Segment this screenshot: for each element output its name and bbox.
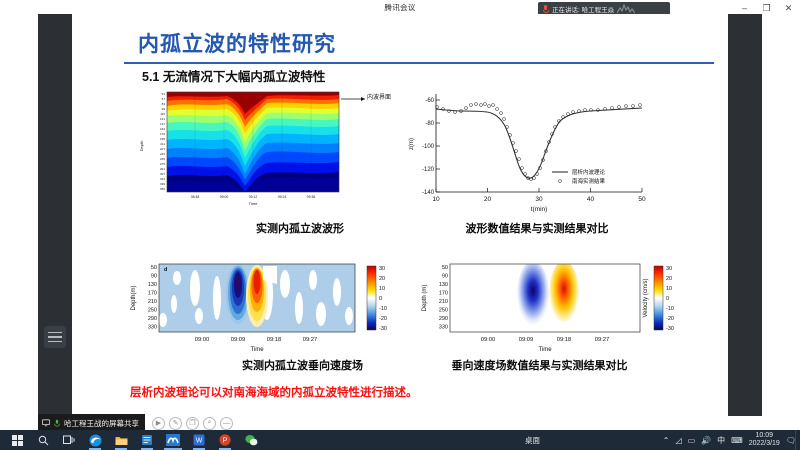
svg-text:09:00: 09:00 <box>195 337 210 343</box>
svg-text:Depth: Depth <box>139 141 144 152</box>
svg-text:09:24: 09:24 <box>278 195 287 199</box>
svg-text:Time: Time <box>249 201 259 206</box>
play-icon[interactable]: ▶ <box>152 417 165 430</box>
microphone-small-icon <box>53 419 61 427</box>
svg-text:290: 290 <box>439 316 448 322</box>
svg-text:115: 115 <box>160 112 165 116</box>
svg-text:-120: -120 <box>422 167 435 173</box>
svg-text:355: 355 <box>160 187 165 191</box>
volume-icon[interactable]: 🔊 <box>701 436 711 445</box>
show-desktop-button[interactable] <box>795 430 800 450</box>
caption-bottom-left: 实测内孤立波垂向速度场 <box>195 357 410 373</box>
keyboard-icon[interactable]: ⌨ <box>731 436 743 445</box>
active-speaker-label: 正在讲话: 哈工程王焱 <box>552 4 614 14</box>
svg-text:275: 275 <box>160 162 165 166</box>
svg-text:50: 50 <box>442 265 448 271</box>
chart-measured-isw-waveform: 516783 99115131 147163179 195211227 2432… <box>127 86 377 216</box>
svg-text:-80: -80 <box>425 121 434 127</box>
svg-text:30: 30 <box>379 266 385 272</box>
audio-wave-icon <box>617 4 635 14</box>
svg-text:-20: -20 <box>666 316 674 322</box>
svg-text:210: 210 <box>148 299 157 305</box>
svg-text:-30: -30 <box>379 326 387 332</box>
svg-text:50: 50 <box>151 265 157 271</box>
svg-text:291: 291 <box>160 167 165 171</box>
monitor-icon <box>42 419 50 427</box>
start-icon[interactable] <box>4 430 30 450</box>
svg-text:09:00: 09:00 <box>481 337 496 343</box>
battery-icon[interactable]: ▭ <box>688 436 696 445</box>
svg-text:-60: -60 <box>425 98 434 104</box>
menu-list-icon[interactable] <box>44 326 66 348</box>
file-explorer-icon[interactable] <box>108 430 134 450</box>
svg-text:南海实测结果: 南海实测结果 <box>572 177 606 185</box>
svg-text:09:27: 09:27 <box>595 337 610 343</box>
svg-text:0: 0 <box>666 296 669 302</box>
svg-text:67: 67 <box>162 97 166 101</box>
edge-icon[interactable] <box>82 430 108 450</box>
svg-text:170: 170 <box>439 291 448 297</box>
svg-text:09:18: 09:18 <box>557 337 572 343</box>
tray-overflow-chevron-icon[interactable]: ⌃ <box>663 436 670 445</box>
svg-text:307: 307 <box>160 172 165 176</box>
svg-text:90: 90 <box>151 274 157 280</box>
svg-text:130: 130 <box>439 282 448 288</box>
window-controls[interactable]: – ❐ ✕ <box>739 1 794 15</box>
svg-text:195: 195 <box>160 137 165 141</box>
annotation-label: 内波界面 <box>367 92 391 101</box>
network-icon[interactable]: ◿ <box>675 436 681 445</box>
svg-text:30: 30 <box>535 196 543 203</box>
app-title: 腾讯会议 <box>0 2 800 13</box>
svg-text:Depth(m): Depth(m) <box>131 285 137 310</box>
title-divider <box>124 62 714 64</box>
svg-text:130: 130 <box>148 282 157 288</box>
clock-date: 2022/3/19 <box>749 440 780 449</box>
svg-text:20: 20 <box>666 276 672 282</box>
svg-text:09:18: 09:18 <box>267 337 282 343</box>
section-heading: 5.1 无流情况下大幅内孤立波特性 <box>142 66 325 85</box>
svg-text:51: 51 <box>162 92 166 96</box>
task-view-icon[interactable] <box>56 430 82 450</box>
svg-text:323: 323 <box>160 177 165 181</box>
svg-text:211: 211 <box>160 142 165 146</box>
caption-top-right: 波形数值结果与实测结果对比 <box>417 220 657 236</box>
svg-text:Depth (m): Depth (m) <box>422 285 428 312</box>
svg-text:-20: -20 <box>379 316 387 322</box>
svg-text:170: 170 <box>148 291 157 297</box>
svg-text:08:48: 08:48 <box>191 195 200 199</box>
svg-text:147: 147 <box>160 122 165 126</box>
svg-text:09:27: 09:27 <box>303 337 318 343</box>
svg-text:90: 90 <box>442 274 448 280</box>
svg-text:99: 99 <box>162 107 166 111</box>
svg-text:330: 330 <box>148 325 157 331</box>
svg-text:83: 83 <box>162 102 166 106</box>
svg-text:20: 20 <box>379 276 385 282</box>
svg-text:330: 330 <box>439 325 448 331</box>
screen: 腾讯会议 正在讲话: 哈工程王焱 – ❐ ✕ 内孤立波的特性研究 5.1 无流情… <box>0 0 800 450</box>
svg-text:-100: -100 <box>422 144 435 150</box>
windows-taskbar: W P ⌃ ◿ ▭ 🔊 中 ⌨ <box>0 430 800 450</box>
svg-text:Time: Time <box>538 347 552 353</box>
svg-text:250: 250 <box>439 308 448 314</box>
copy-icon[interactable]: ❐ <box>186 417 199 430</box>
powerpoint-icon[interactable]: P <box>212 430 238 450</box>
svg-text:W: W <box>196 438 203 445</box>
svg-text:10: 10 <box>666 286 672 292</box>
tencent-meeting-icon[interactable] <box>160 430 186 450</box>
restore-button[interactable]: ❐ <box>761 1 772 15</box>
wps-writer-icon[interactable]: W <box>186 430 212 450</box>
chart-waveform-comparison: -60 -80 -100 -120 -140 z(m) 10 <box>402 86 662 221</box>
svg-text:Velocity (cm/s): Velocity (cm/s) <box>643 278 649 317</box>
clock-time: 10:09 <box>749 432 780 441</box>
svg-text:z(m): z(m) <box>409 138 415 150</box>
screen-share-buttons[interactable]: ▶ ✎ ❐ ⌕ — <box>145 417 233 430</box>
svg-text:层析内波理论: 层析内波理论 <box>572 168 606 176</box>
page-title: 内孤立波的特性研究 <box>138 28 336 58</box>
svg-text:30: 30 <box>666 266 672 272</box>
chart-modeled-velocity-field: 5090 130170 210250 290330 Depth (m) 09:0… <box>402 258 697 358</box>
svg-text:d: d <box>164 267 167 273</box>
svg-text:09:12: 09:12 <box>249 195 258 199</box>
search-icon[interactable] <box>30 430 56 450</box>
svg-text:179: 179 <box>160 132 165 136</box>
taskbar-clock[interactable]: 10:09 2022/3/19 <box>749 432 780 449</box>
svg-text:163: 163 <box>160 127 165 131</box>
svg-text:P: P <box>223 438 228 445</box>
svg-text:-10: -10 <box>379 306 387 312</box>
svg-text:-10: -10 <box>666 306 674 312</box>
caption-top-left: 实测内孤立波波形 <box>205 220 395 236</box>
svg-text:243: 243 <box>160 152 165 156</box>
svg-text:227: 227 <box>160 147 165 151</box>
svg-text:50: 50 <box>638 196 646 203</box>
taskbar-apps: W P <box>0 430 264 450</box>
svg-text:Time: Time <box>250 347 264 353</box>
svg-text:20: 20 <box>484 196 492 203</box>
svg-text:290: 290 <box>148 316 157 322</box>
svg-text:-30: -30 <box>666 326 674 332</box>
minimize-button[interactable]: – <box>739 1 750 15</box>
zoom-icon[interactable]: ⌕ <box>203 417 216 430</box>
notes-icon[interactable] <box>134 430 160 450</box>
pen-icon[interactable]: ✎ <box>169 417 182 430</box>
chart-measured-velocity-field: d 5090 130170 210250 290330 Depth(m) 09:… <box>117 258 407 358</box>
svg-text:259: 259 <box>160 157 165 161</box>
svg-text:09:09: 09:09 <box>231 337 246 343</box>
desktop-peek-label[interactable]: 桌面 <box>525 430 540 450</box>
svg-text:131: 131 <box>160 117 165 121</box>
svg-text:09:36: 09:36 <box>307 195 316 199</box>
caption-bottom-right: 垂向速度场数值结果与实测结果对比 <box>412 357 667 373</box>
close-button[interactable]: ✕ <box>783 1 794 15</box>
svg-text:0: 0 <box>379 296 382 302</box>
svg-text:40: 40 <box>587 196 595 203</box>
microphone-icon <box>542 5 549 14</box>
conclusion-text: 层析内波理论可以对南海海域的内孤立波特性进行描述。 <box>130 384 418 400</box>
svg-text:09:00: 09:00 <box>220 195 229 199</box>
svg-text:10: 10 <box>432 196 440 203</box>
svg-text:t(min): t(min) <box>531 206 548 213</box>
wechat-icon[interactable] <box>238 430 264 450</box>
presentation-slide: 内孤立波的特性研究 5.1 无流情况下大幅内孤立波特性 <box>72 14 728 416</box>
svg-text:09:09: 09:09 <box>519 337 534 343</box>
left-side-panel <box>38 14 72 416</box>
right-side-panel <box>728 14 762 416</box>
svg-text:339: 339 <box>160 182 165 186</box>
system-tray: ⌃ ◿ ▭ 🔊 中 ⌨ 10:09 2022/3/19 🗨 <box>663 432 800 449</box>
ime-language-icon[interactable]: 中 <box>717 435 725 446</box>
screen-share-label: 哈工程王战的屏幕共享 <box>64 418 139 429</box>
svg-text:10: 10 <box>379 286 385 292</box>
minus-icon[interactable]: — <box>220 417 233 430</box>
svg-text:250: 250 <box>148 308 157 314</box>
interface-annotation-arrow <box>341 97 365 101</box>
svg-text:210: 210 <box>439 299 448 305</box>
